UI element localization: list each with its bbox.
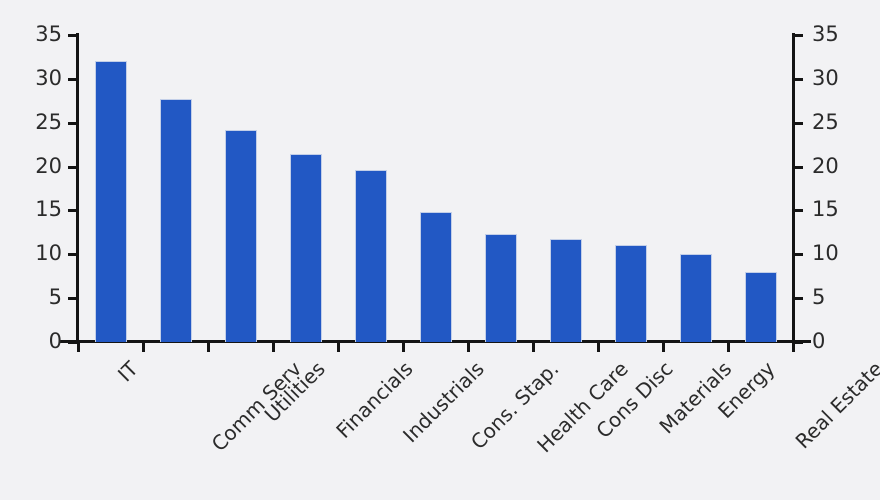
x-axis-tick-label: IT: [114, 358, 141, 385]
y-axis-right-tick: [795, 341, 803, 344]
y-axis-left-tick-label: 15: [35, 199, 62, 220]
y-axis-left-tick: [68, 253, 76, 256]
bar[interactable]: [355, 170, 387, 342]
bar[interactable]: [225, 130, 257, 342]
y-axis-right-tick: [795, 122, 803, 125]
y-axis-right-tick: [795, 34, 803, 37]
y-axis-right-tick: [795, 78, 803, 81]
x-axis-tick: [402, 343, 405, 352]
y-axis-left-tick-label: 30: [35, 68, 62, 89]
x-axis-tick: [142, 343, 145, 352]
x-axis-tick: [272, 343, 275, 352]
y-axis-right-tick: [795, 297, 803, 300]
y-axis-left-tick: [68, 122, 76, 125]
y-axis-left-tick-label: 0: [49, 331, 62, 352]
y-axis-left-tick-label: 10: [35, 243, 62, 264]
bar[interactable]: [420, 212, 452, 342]
bar-chart: 05101520253035 05101520253035 ITComm Ser…: [0, 0, 880, 500]
y-axis-right-tick-label: 10: [812, 243, 839, 264]
y-axis-right-tick-label: 20: [812, 156, 839, 177]
y-axis-left-tick-label: 35: [35, 24, 62, 45]
y-axis-right-tick-label: 5: [812, 287, 825, 308]
y-axis-left-tick: [68, 341, 76, 344]
y-axis-right-tick-label: 0: [812, 331, 825, 352]
x-axis-tick-label: Real Estate: [792, 358, 880, 452]
x-axis-tick: [662, 343, 665, 352]
plot-area: [78, 35, 793, 342]
x-axis-tick: [532, 343, 535, 352]
bar[interactable]: [290, 154, 322, 342]
x-axis-tick: [77, 343, 80, 352]
y-axis-right-tick-label: 35: [812, 24, 839, 45]
y-axis-left-tick-label: 20: [35, 156, 62, 177]
x-axis-tick: [727, 343, 730, 352]
y-axis-right-tick-label: 30: [812, 68, 839, 89]
y-axis-right-tick: [795, 253, 803, 256]
x-axis-tick: [207, 343, 210, 352]
y-axis-left-tick: [68, 78, 76, 81]
y-axis-right-tick-label: 25: [812, 112, 839, 133]
bar[interactable]: [615, 245, 647, 342]
bar[interactable]: [160, 99, 192, 342]
x-axis-tick: [597, 343, 600, 352]
x-axis-tick: [467, 343, 470, 352]
bar[interactable]: [745, 272, 777, 342]
x-axis-tick: [337, 343, 340, 352]
y-axis-left-tick: [68, 34, 76, 37]
bar[interactable]: [550, 239, 582, 343]
bar[interactable]: [680, 254, 712, 342]
bar[interactable]: [485, 234, 517, 342]
y-axis-left-tick: [68, 166, 76, 169]
bar[interactable]: [95, 61, 127, 342]
x-axis-tick: [792, 343, 795, 352]
y-axis-left-tick-label: 5: [49, 287, 62, 308]
y-axis-left-tick-label: 25: [35, 112, 62, 133]
y-axis-left-tick: [68, 209, 76, 212]
y-axis-right-tick-label: 15: [812, 199, 839, 220]
y-axis-right-tick: [795, 209, 803, 212]
y-axis-right-tick: [795, 166, 803, 169]
y-axis-left-tick: [68, 297, 76, 300]
